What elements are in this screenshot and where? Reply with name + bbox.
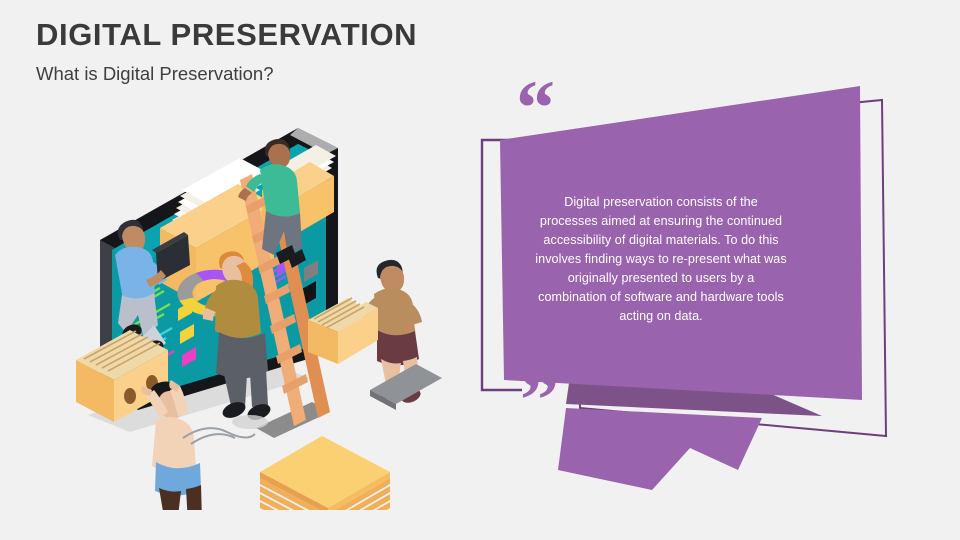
close-quote-icon: ”: [520, 356, 559, 443]
quote-text: Digital preservation consists of the pro…: [535, 193, 787, 327]
quote-tail-plate: [558, 408, 762, 490]
folder-stack: [260, 436, 390, 510]
floor-cable: [183, 428, 255, 444]
grey-device: [370, 364, 442, 410]
illustration-isometric-archive: [60, 110, 460, 510]
slide-canvas: DIGITAL PRESERVATION What is Digital Pre…: [0, 0, 960, 540]
open-quote-icon: “: [516, 78, 555, 151]
page-title: DIGITAL PRESERVATION: [36, 18, 556, 52]
header-block: DIGITAL PRESERVATION What is Digital Pre…: [36, 18, 556, 85]
